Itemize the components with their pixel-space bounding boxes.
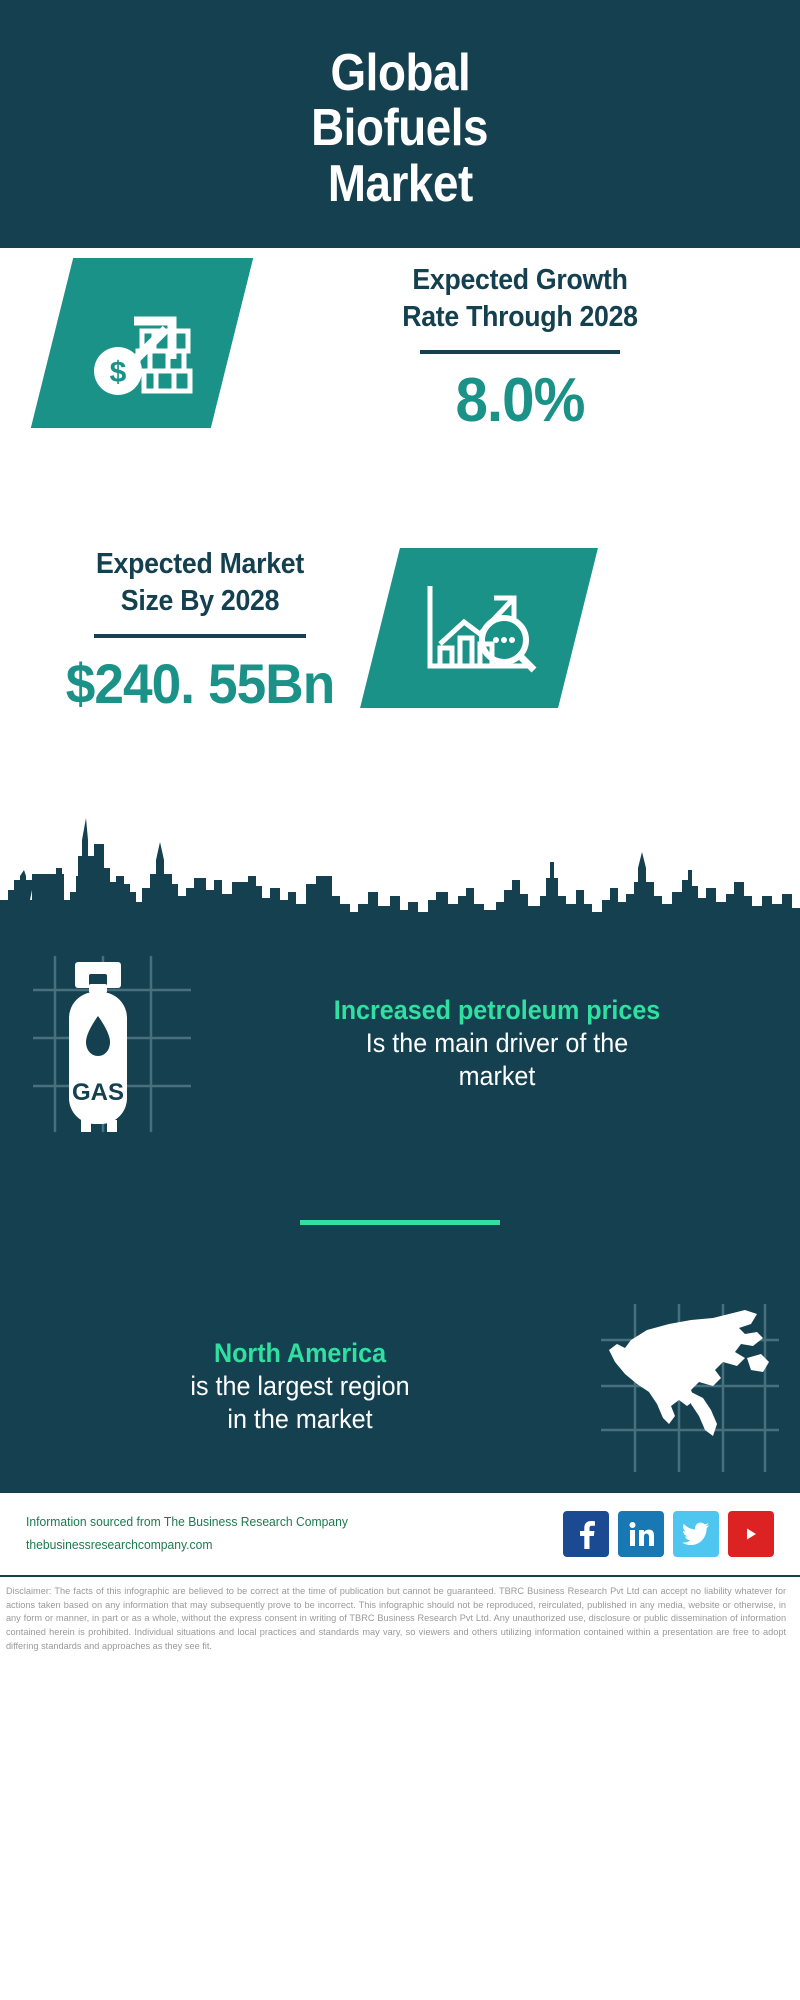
source-website-link[interactable]: thebusinessresearchcompany.com [26, 1534, 547, 1557]
city-skyline-graphic [0, 784, 800, 924]
gas-cylinder-icon: GAS [15, 954, 205, 1134]
source-attribution: Information sourced from The Business Re… [26, 1511, 563, 1557]
facebook-icon[interactable] [563, 1511, 609, 1557]
market-size-label-line1: Expected Market [34, 546, 365, 583]
market-size-block: Expected Market Size By 2028 $240. 55Bn [0, 538, 800, 788]
market-driver-line1: Is the main driver of the [239, 1027, 754, 1061]
largest-region-line2: in the market [40, 1403, 561, 1437]
youtube-icon[interactable] [728, 1511, 774, 1557]
growth-icon-panel: $ [31, 258, 253, 428]
market-size-text: Expected Market Size By 2028 $240. 55Bn [20, 546, 380, 712]
market-driver-text: Increased petroleum prices Is the main d… [220, 994, 800, 1094]
growth-rate-label-line2: Rate Through 2028 [290, 299, 750, 336]
chart-magnifier-icon [416, 574, 542, 682]
largest-region-line1: is the largest region [40, 1370, 561, 1404]
growth-rate-label-line1: Expected Growth [290, 262, 750, 299]
page-title-line-2: Biofuels [311, 101, 488, 156]
market-size-label-line2: Size By 2028 [34, 583, 365, 620]
growth-rate-divider [420, 350, 620, 354]
north-america-map-icon [595, 1300, 785, 1475]
market-size-divider [94, 634, 306, 638]
svg-text:GAS: GAS [72, 1079, 124, 1106]
gas-icon-container: GAS [0, 954, 220, 1134]
linkedin-icon[interactable] [618, 1511, 664, 1557]
page-header: Global Biofuels Market [0, 0, 800, 248]
footer-bar: Information sourced from The Business Re… [0, 1493, 800, 1577]
section-divider [300, 1220, 500, 1225]
svg-text:$: $ [110, 356, 127, 389]
page-title-line-3: Market [328, 157, 473, 212]
growth-rate-text: Expected Growth Rate Through 2028 8.0% [270, 262, 770, 432]
market-size-icon-panel [360, 548, 598, 708]
stats-section: $ Expected Growth Rate Through 2028 8.0% [0, 248, 800, 788]
map-icon-container [580, 1292, 800, 1482]
growth-rate-block: $ Expected Growth Rate Through 2028 8.0% [0, 248, 800, 538]
market-driver-row: GAS Increased petroleum prices Is the ma… [0, 924, 800, 1154]
largest-region-row: North America is the largest region in t… [0, 1287, 800, 1487]
insights-section: GAS Increased petroleum prices Is the ma… [0, 924, 800, 1493]
social-links [563, 1511, 774, 1557]
largest-region-highlight: North America [40, 1337, 561, 1370]
twitter-icon[interactable] [673, 1511, 719, 1557]
market-driver-line2: market [239, 1060, 754, 1094]
market-driver-highlight: Increased petroleum prices [239, 994, 754, 1027]
largest-region-text: North America is the largest region in t… [0, 1337, 580, 1437]
money-growth-icon: $ [82, 287, 202, 399]
disclaimer-text: Disclaimer: The facts of this infographi… [0, 1577, 792, 1653]
market-size-value: $240. 55Bn [29, 656, 371, 712]
source-line-1: Information sourced from The Business Re… [26, 1511, 547, 1534]
growth-rate-value: 8.0% [285, 370, 755, 432]
page-title-line-1: Global [330, 46, 470, 101]
